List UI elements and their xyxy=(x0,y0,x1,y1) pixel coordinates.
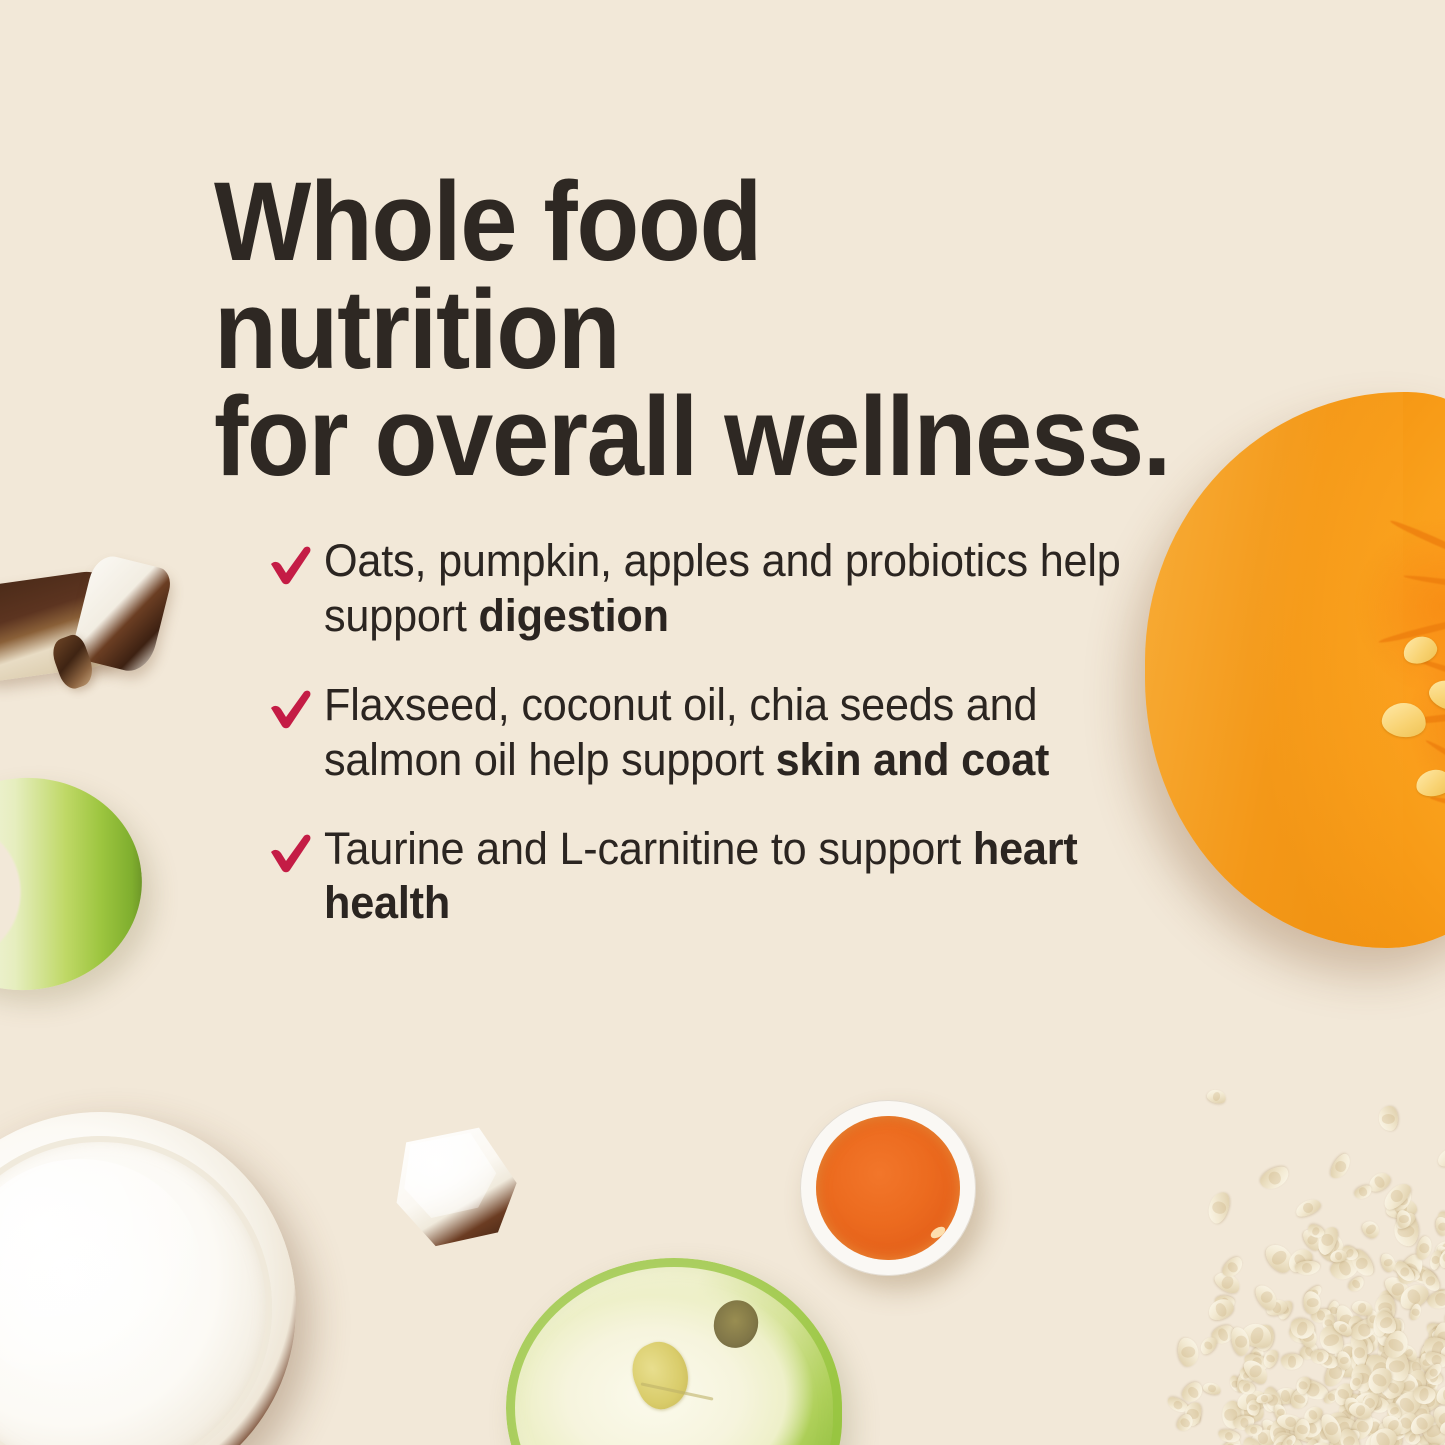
rolled-oats-image xyxy=(1125,1063,1445,1445)
marketing-image-canvas: Whole food nutrition for overall wellnes… xyxy=(0,0,1445,1445)
oat-flake xyxy=(1434,1215,1445,1237)
oat-flake xyxy=(1295,1260,1321,1275)
salmon-oil-bowl-image xyxy=(800,1100,976,1276)
coconut-flesh-ring xyxy=(0,1136,272,1445)
benefit-emphasis-text: skin and coat xyxy=(776,734,1050,785)
apple-slice-image xyxy=(0,766,152,1001)
oat-flake xyxy=(1360,1218,1383,1241)
check-icon xyxy=(268,832,314,876)
coconut-half-image xyxy=(0,1112,296,1445)
oat-flake xyxy=(1281,1354,1303,1370)
apple-half-image xyxy=(506,1258,842,1445)
benefit-emphasis-text: digestion xyxy=(479,590,669,641)
oat-flake xyxy=(1202,1381,1222,1396)
oat-flake xyxy=(1206,1088,1228,1106)
oat-flake xyxy=(1177,1336,1200,1367)
benefit-lead-text: Taurine and L-carnitine to support xyxy=(324,823,973,874)
check-icon xyxy=(268,544,314,588)
salmon-oil xyxy=(816,1116,960,1260)
list-item: Taurine and L-carnitine to support heart… xyxy=(268,822,1208,932)
list-item-text: Taurine and L-carnitine to support heart… xyxy=(324,822,1173,932)
page-title: Whole food nutrition for overall wellnes… xyxy=(214,168,1189,491)
list-item-text: Flaxseed, coconut oil, chia seeds and sa… xyxy=(324,678,1173,788)
oat-flake xyxy=(1258,1163,1293,1193)
oat-flake xyxy=(1293,1196,1322,1219)
coconut-chunk-image xyxy=(384,1121,528,1252)
list-item: Oats, pumpkin, apples and probiotics hel… xyxy=(268,534,1208,644)
oat-flake xyxy=(1435,1143,1445,1169)
list-item: Flaxseed, coconut oil, chia seeds and sa… xyxy=(268,678,1208,788)
benefit-lead-text: Oats, pumpkin, apples and probiotics hel… xyxy=(324,535,1121,641)
benefits-list: Oats, pumpkin, apples and probiotics hel… xyxy=(268,534,1208,931)
oat-flake xyxy=(1350,1298,1374,1317)
oat-flake xyxy=(1326,1151,1353,1182)
list-item-text: Oats, pumpkin, apples and probiotics hel… xyxy=(324,534,1173,644)
oat-flake xyxy=(1379,1106,1398,1131)
check-icon xyxy=(268,688,314,732)
oat-flake xyxy=(1204,1189,1232,1225)
